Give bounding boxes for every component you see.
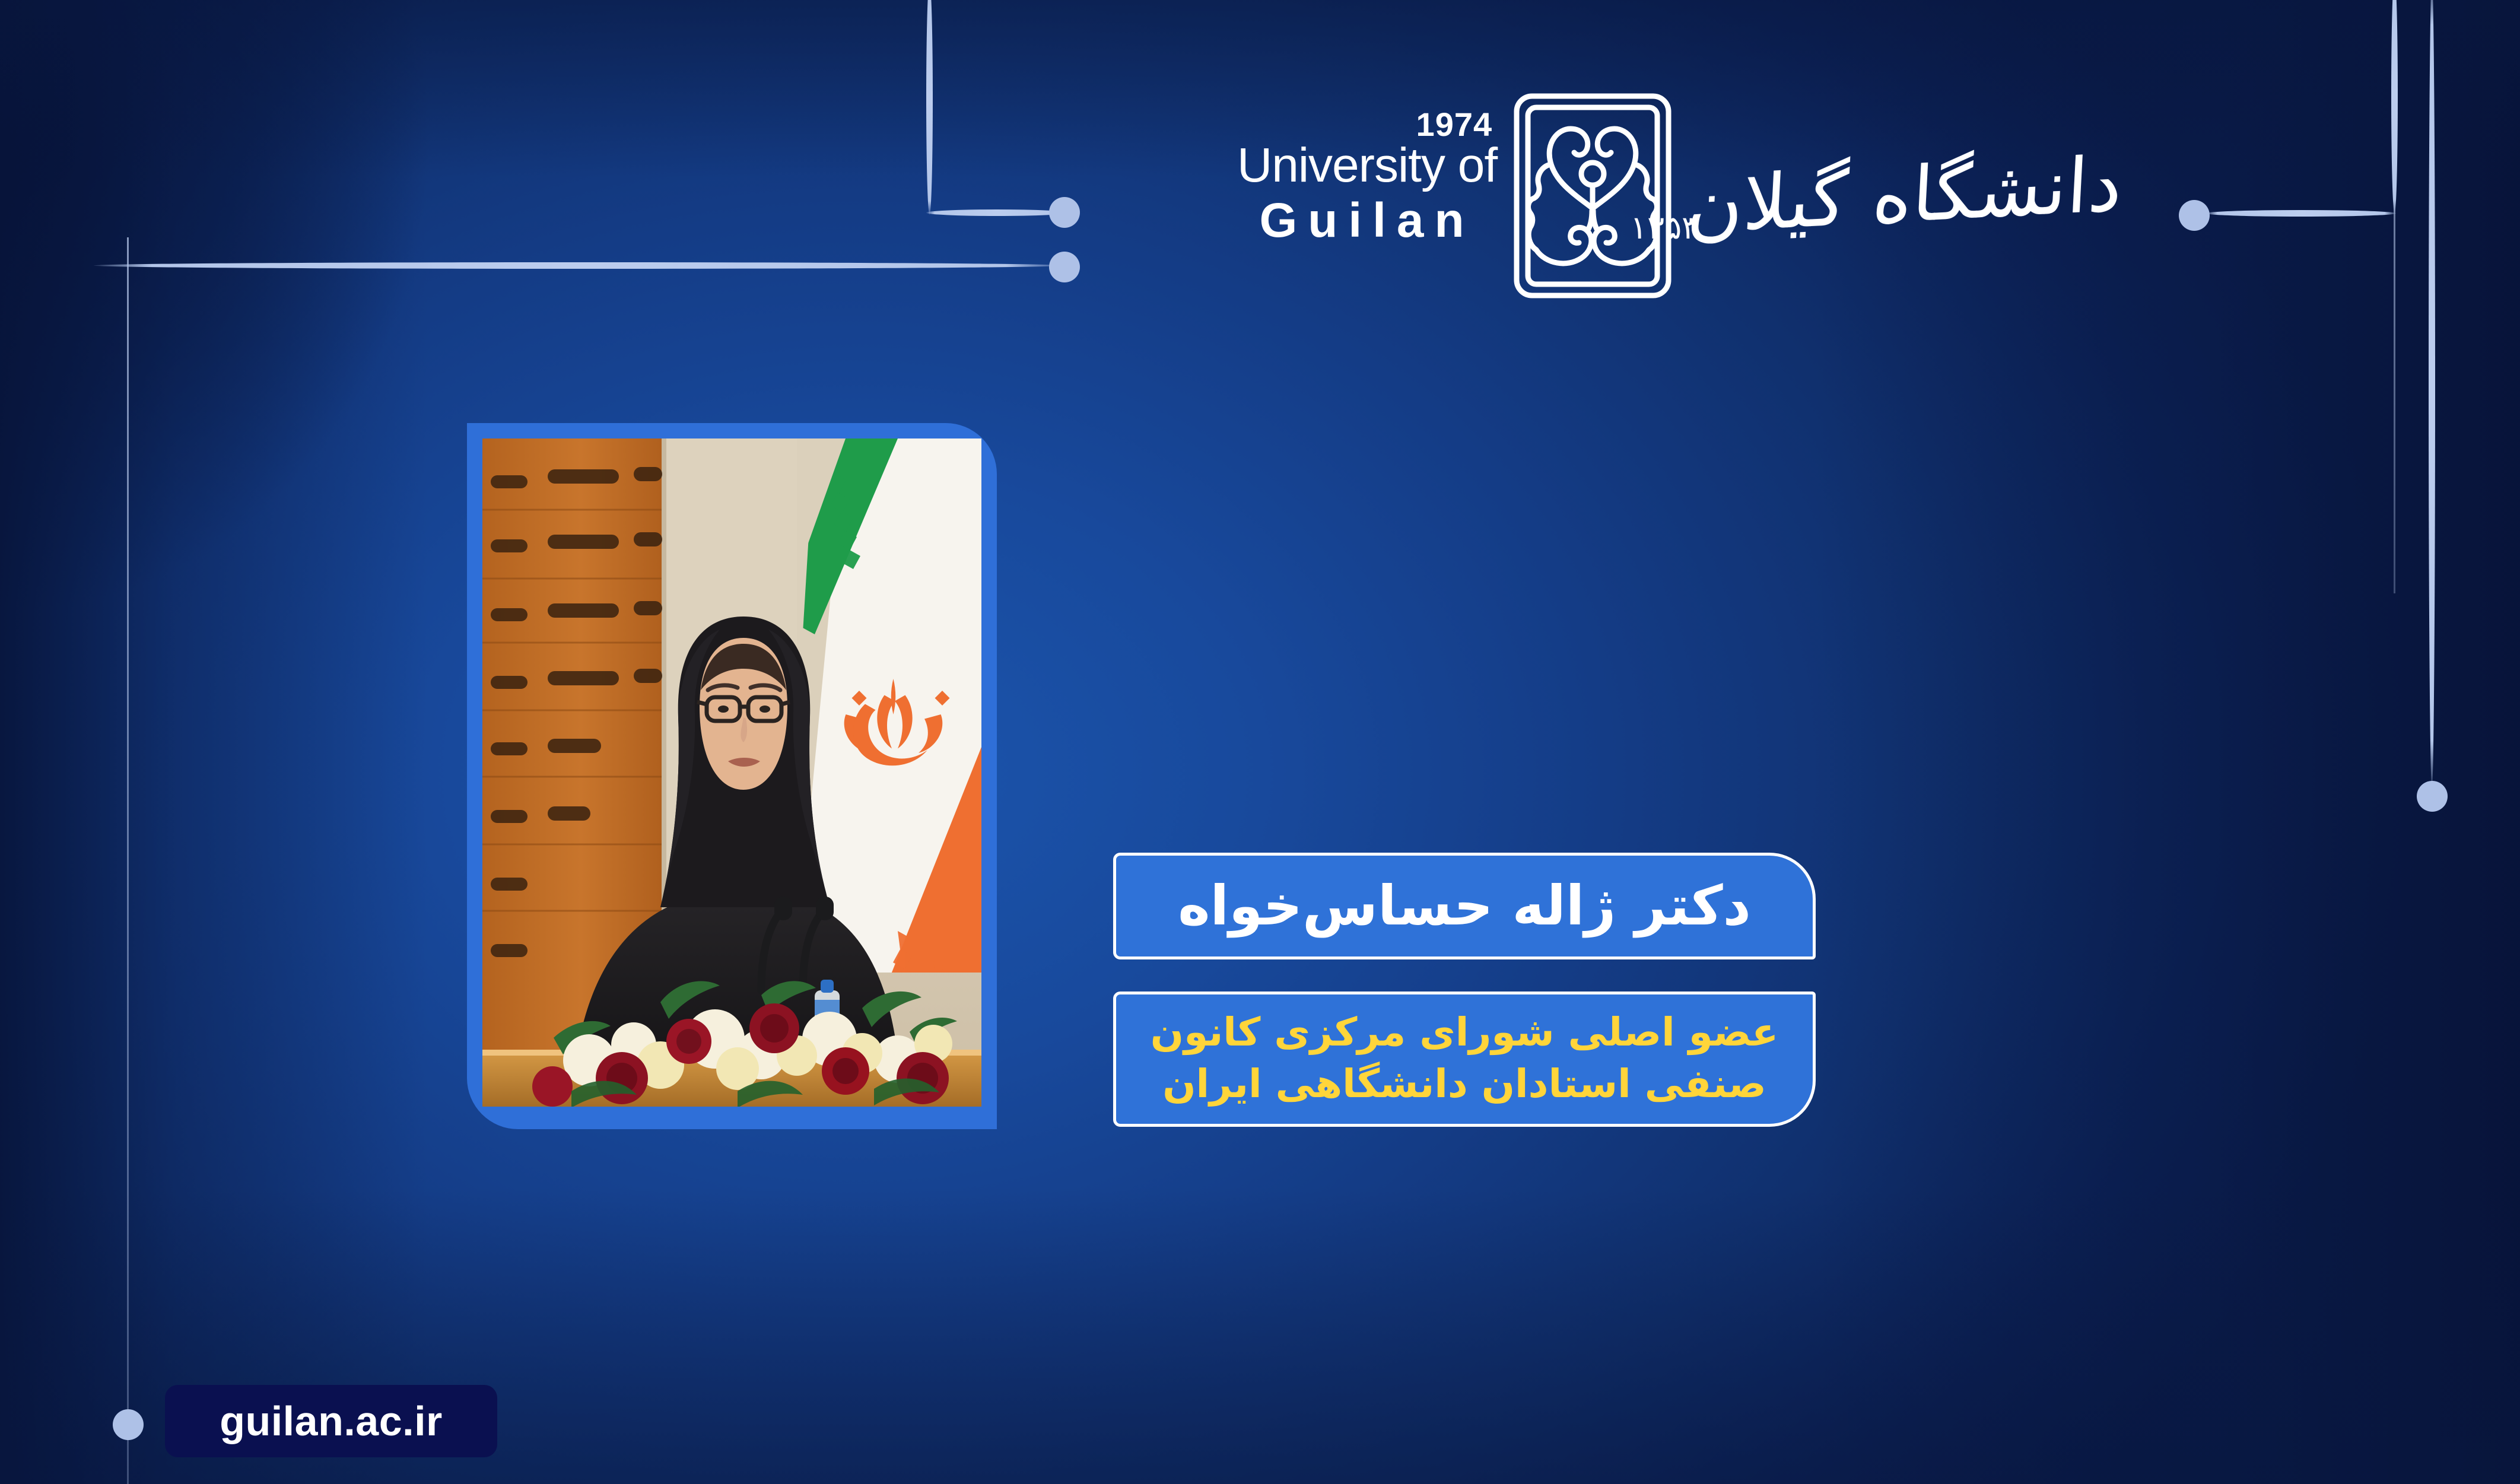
decor-dot-mid-left: [1049, 252, 1080, 282]
decor-dot-upper-left: [1049, 197, 1080, 228]
speaker-name: دکتر ژاله حساس‌خواه: [1151, 876, 1778, 936]
hairline-left: [127, 237, 129, 1484]
logo-name-fa: دانشگاه گیلان: [1685, 147, 2124, 245]
decor-dot-upper-right: [2179, 200, 2210, 231]
website-chip[interactable]: guilan.ac.ir: [165, 1385, 497, 1457]
poster-canvas: 1974 University of Guilan: [0, 0, 2520, 1484]
logo-name-en-line2: Guilan: [1237, 190, 1497, 252]
logo-established-year-en: 1974: [1416, 105, 1493, 144]
logo-english-block: 1974 University of Guilan: [1237, 141, 1497, 251]
decor-dot-lower-right: [2417, 781, 2448, 812]
decor-dot-bottom-left: [113, 1409, 144, 1440]
decor-stroke-top-right-horizontal: [2206, 210, 2396, 217]
speaker-role-badge: عضو اصلی شورای مرکزی کانون صنفی استادان …: [1113, 992, 1816, 1127]
decor-stroke-right-long-vertical: [2429, 0, 2435, 789]
logo-persian-block: ۱۳۵۳ دانشگاه گیلان: [1688, 158, 2121, 234]
decor-stroke-long-horizontal: [94, 262, 1064, 269]
website-url: guilan.ac.ir: [220, 1397, 443, 1445]
speaker-photo: [482, 438, 981, 1107]
university-logo: 1974 University of Guilan: [1237, 92, 2121, 300]
speaker-photo-illustration: [482, 438, 981, 1107]
logo-name-en-line1: University of: [1237, 141, 1497, 190]
university-emblem-icon: [1512, 92, 1673, 300]
speaker-photo-card: [467, 423, 997, 1129]
speaker-role: عضو اصلی شورای مرکزی کانون صنفی استادان …: [1116, 1000, 1813, 1118]
speaker-name-badge: دکتر ژاله حساس‌خواه: [1113, 853, 1816, 959]
decor-stroke-top-left-horizontal: [926, 209, 1067, 216]
